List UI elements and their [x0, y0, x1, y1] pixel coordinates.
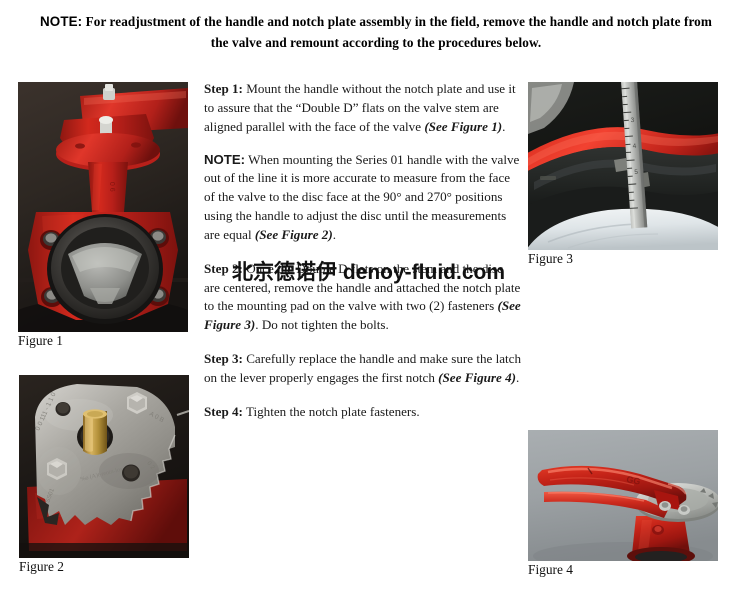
figure-4-image: GG — [528, 430, 718, 561]
note-series-01-label: NOTE: — [204, 152, 245, 167]
note-series-01-text-end: . — [333, 227, 336, 242]
svg-text:0 6: 0 6 — [108, 182, 115, 192]
paragraph-step-3: Step 3: Carefully replace the handle and… — [204, 350, 522, 388]
document-page: NOTE: For readjustment of the handle and… — [0, 0, 741, 596]
step-1-label: Step 1: — [204, 81, 243, 96]
note-series-01-text: When mounting the Series 01 handle with … — [204, 152, 519, 242]
header-note-text: For readjustment of the handle and notch… — [86, 14, 712, 50]
step-1-text-end: . — [502, 119, 505, 134]
figure-4-block: GG Figure 4 — [528, 430, 718, 578]
step-3-label: Step 3: — [204, 351, 243, 366]
paragraph-note-series-01: NOTE: When mounting the Series 01 handle… — [204, 150, 522, 245]
watermark-text: 北京德诺伊 denoy-fluid.com — [232, 262, 505, 283]
step-3-figure-reference: (See Figure 4) — [438, 370, 516, 385]
step-1-figure-reference: (See Figure 1) — [424, 119, 502, 134]
paragraph-step-1: Step 1: Mount the handle without the not… — [204, 80, 522, 137]
figure-3-caption: Figure 3 — [528, 251, 718, 267]
figure-1-image: 0 6 — [18, 82, 188, 332]
step-2-text-end: . Do not tighten the bolts. — [255, 317, 388, 332]
paragraph-step-4: Step 4: Tighten the notch plate fastener… — [204, 403, 522, 422]
header-note: NOTE: For readjustment of the handle and… — [40, 12, 712, 53]
figure-3-block: 3 4 5 Figure 3 — [528, 82, 718, 267]
step-3-text-end: . — [516, 370, 519, 385]
butterfly-valve-photo-graphic: 0 6 — [18, 82, 188, 332]
lever-handle-notch-photo-graphic: GG — [528, 430, 718, 561]
instruction-text-column: Step 1: Mount the handle without the not… — [204, 80, 522, 422]
figure-2-caption: Figure 2 — [19, 559, 189, 575]
figure-1-caption: Figure 1 — [18, 333, 188, 349]
note-series-01-figure-reference: (See Figure 2) — [255, 227, 333, 242]
header-note-label: NOTE: — [40, 14, 82, 29]
figure-3-image: 3 4 5 — [528, 82, 718, 250]
rule-measuring-disc-photo-graphic: 3 4 5 — [528, 82, 718, 250]
figure-2-image: 0 0 111 - 1 1 0 A 0 B %o (A)t-reoin-lox … — [19, 375, 189, 558]
figure-1-block: 0 6 — [18, 82, 188, 349]
figure-2-block: 0 0 111 - 1 1 0 A 0 B %o (A)t-reoin-lox … — [19, 375, 189, 575]
step-4-label: Step 4: — [204, 404, 243, 419]
step-4-text: Tighten the notch plate fasteners. — [243, 404, 420, 419]
notch-plate-photo-graphic: 0 0 111 - 1 1 0 A 0 B %o (A)t-reoin-lox … — [19, 375, 189, 558]
figure-4-caption: Figure 4 — [528, 562, 718, 578]
